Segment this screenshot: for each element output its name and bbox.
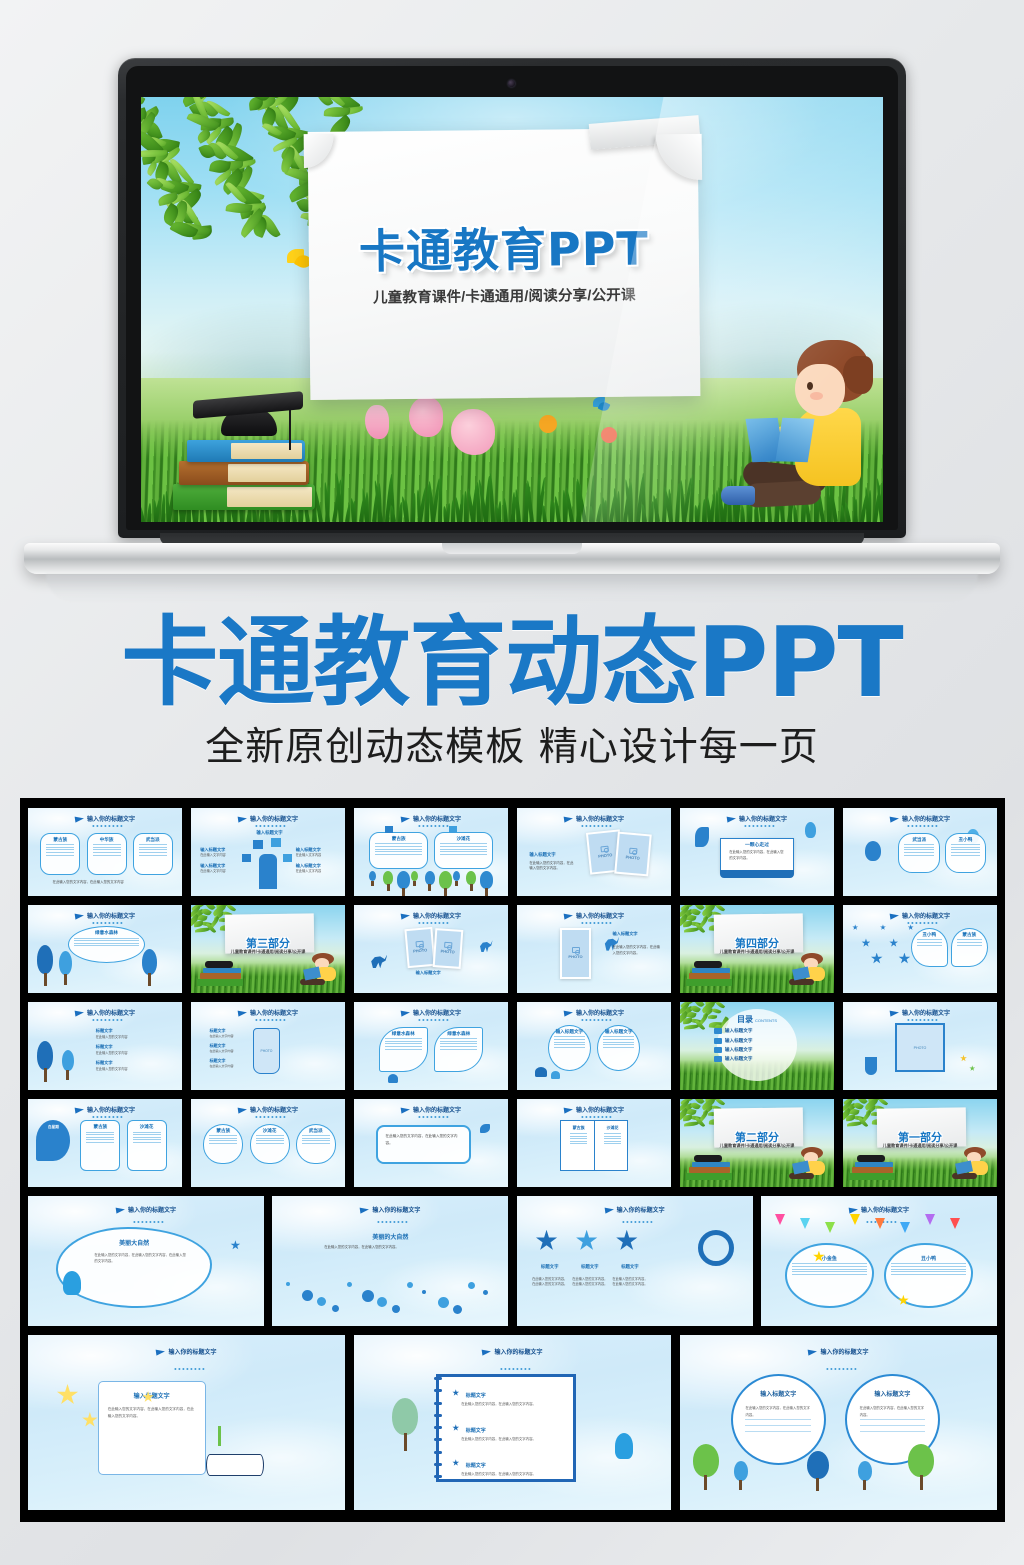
photo-placeholder[interactable]: PHOTO [405,927,436,968]
body-text: 在此输入您的文字内容，在此输入您的文字内容。 [461,1402,561,1407]
content-card[interactable]: 沙滩花 [127,1120,167,1171]
thumb-header-text: 输入你的标题文字 [87,1105,135,1114]
camera-icon [629,847,637,854]
star-icon [452,1424,459,1431]
slide-thumbnail[interactable]: 第三部分 儿童教育课件/卡通通用/阅读分享/公开课 [191,905,345,993]
notebook-ring [434,1463,442,1466]
mushroom-icon [388,1074,398,1083]
tree-icon [466,871,476,890]
contents-item[interactable]: 输入标题文字 [714,1038,819,1044]
book-spine [594,1120,595,1171]
slide-thumbnail[interactable]: 输入你的标题文字 输入标题文字 在此输入您的文字内容，在此输入您的文字内容。 输… [680,1335,997,1510]
contents-number [714,1047,722,1053]
thumb-header-text: 输入你的标题文字 [413,911,461,920]
card-body: 在此输入您的文字内容，在此输入您的文字内容。 [745,1405,811,1437]
paper-plane-icon [75,815,85,822]
content-card[interactable]: 武当派 [133,833,173,875]
label-block: 输入标题文字 在此输入文字内容 [296,847,335,858]
slide-thumbnail[interactable]: 输入你的标题文字 标题文字 在此输入您的文字内容，在此输入您的文字内容。 标题文… [354,1335,671,1510]
header-dots [500,1368,530,1370]
body-text: 在此输入您的文字内容，在此输入您的文字内容。 [611,1277,649,1287]
sprout-icon [218,1426,221,1446]
header-dots [92,1116,122,1118]
paper-plane-icon [401,1009,411,1016]
card-title: 武当派 [899,837,939,843]
thumb-header: 输入你的标题文字 [680,1347,997,1356]
poster-headline-block: 卡通教育动态PPT 全新原创动态模板 精心设计每一页 [0,612,1024,792]
header-dots [378,1221,408,1223]
slide-thumbnail[interactable]: 输入你的标题文字 在此输入您的文字内容，在此输入您的文字内容。 [354,1099,508,1187]
content-card[interactable]: 丑小鸭 [911,928,948,967]
slide-background [680,1335,997,1510]
tree-icon [858,1461,872,1489]
heart-icon [242,854,251,862]
content-card[interactable]: 在此输入您的文字内容，在此输入您的文字内容。 [376,1125,471,1164]
content-card[interactable]: 蒙古族 [369,832,428,869]
card-title: 武当派 [134,837,172,843]
body-text: 在此输入您的文字内容，在此输入您的文字内容。 [612,945,661,956]
thumb-header: 输入你的标题文字 [517,814,671,823]
content-card[interactable]: 武当派 [296,1124,336,1164]
photo-label: PHOTO [568,954,582,959]
content-card[interactable]: 蒙古族 [203,1124,243,1164]
item-label: 标题文字 [531,1264,569,1270]
content-card[interactable]: 输入标题文字 [548,1025,591,1071]
thumb-header: 输入你的标题文字 [354,1347,671,1356]
paper-plane-icon [238,1009,248,1016]
card-title: 中华族 [88,837,126,843]
label-block: 输入标题文字 在此输入文字内容 [200,863,239,874]
header-dots [581,825,611,827]
slide-thumbnail[interactable]: 第一部分 儿童教育课件/卡通通用/阅读分享/公开课 [843,1099,997,1187]
slide-thumbnail[interactable]: 输入你的标题文字 PHOTO PHOTO 输入标题文字 [354,905,508,993]
thumb-header-text: 输入你的标题文字 [902,1008,950,1017]
card-title: 输入标题文字 [612,931,637,937]
notebook-ring [434,1438,442,1441]
ship-wheel-icon [698,1230,734,1266]
slide-thumbnail[interactable]: 输入你的标题文字 一颗心走过在此输入您的文字内容，在此输入您的文字内容。 [680,808,834,896]
list-item[interactable]: 标题文字 在此输入您的文字内容，在此输入您的文字内容。 [452,1384,561,1407]
camera-icon [416,941,424,948]
content-card[interactable]: 蒙古族 [80,1120,120,1171]
photo-label: PHOTO [625,854,640,860]
header-dots [418,825,448,827]
thumb-header-text: 输入你的标题文字 [87,1008,135,1017]
heart-icon [271,838,281,847]
body-text: 在此输入您的文字内容，在此输入您的文字内容。 [529,861,575,872]
notebook-ring [434,1451,442,1454]
notebook-ring [434,1389,442,1392]
plant-pot-icon [865,1057,877,1075]
butterfly-icon [480,1124,490,1133]
body-text: 在此输入您的文字内容，在此输入您的文字内容 [53,880,161,885]
tree-icon [142,949,157,985]
content-card[interactable]: 沙滩花 [250,1124,290,1164]
thumb-header-text: 输入你的标题文字 [413,814,461,823]
thumb-header: 输入你的标题文字 [28,814,182,823]
header-dots [418,1116,448,1118]
slide-thumbnail[interactable]: 输入你的标题文字 蒙古族 中华族 武当派 在此输入您的文字内容，在此输入您的文字… [28,808,182,896]
book-stack-icon [686,1154,732,1180]
thumb-header-text: 输入你的标题文字 [576,1105,624,1114]
content-card[interactable]: 武当派 [898,833,940,873]
card-title: 美丽大自然 [58,1238,210,1247]
book-stack-icon [686,960,732,986]
card-title: 输入标题文字 [416,970,441,976]
label-block: 输入标题文字 在此输入文字内容 [296,863,335,874]
page-subtitle: 全新原创动态模板 精心设计每一页 [0,716,1024,772]
dot-flower-icon [362,1290,374,1302]
slide-thumbnail[interactable]: 输入你的标题文字 小金鱼 丑小鸭 [761,1196,997,1326]
child-silhouette-icon [63,1271,81,1295]
photo-label: PHOTO [598,852,613,858]
card-title: 蒙古族 [370,836,427,842]
contents-item[interactable]: 输入标题文字 [714,1056,819,1062]
thumb-header-text: 输入你的标题文字 [250,1008,298,1017]
paper-plane-icon [238,1106,248,1113]
tree-icon [369,871,376,885]
body-text: 在此输入您的文字内容，在此输入您的文字内容。 [571,1277,609,1287]
list-item[interactable]: 标题文字 在此输入文字内容 [209,1028,246,1038]
thumb-header: 输入你的标题文字 [761,1205,997,1214]
thumbnail-row: 输入你的标题文字 绿意水森林 第三部分 儿童教育课件/卡通通用/阅读分享/公开课 [28,905,997,993]
thumb-header: 输入你的标题文字 [517,1008,671,1017]
paper-plane-icon [564,1009,574,1016]
heart-icon [385,826,393,833]
thumb-header: 输入你的标题文字 [843,911,997,920]
header-dots [418,1019,448,1021]
list-item[interactable]: 标题文字 在此输入您的文字内容，在此输入您的文字内容。 [452,1419,561,1442]
slide-thumbnail[interactable]: 目录CONTENTS 输入标题文字 输入标题文字 输入标题文字 输入标题文字 [680,1002,834,1090]
title-paper-card: 卡通教育PPT 儿童教育课件/卡通通用/阅读分享/公开课 [308,128,701,400]
star-icon [452,1459,459,1466]
card-title: 蒙古族 [81,1124,119,1130]
item-label: 标题文字 [466,1428,486,1434]
thumbnail-row: 输入你的标题文字 输入标题文字 在此输入您的文字内容，在此输入您的文字内容，在此… [28,1335,997,1510]
content-card[interactable]: 沙滩花 [599,1125,627,1146]
thumb-header: 输入你的标题文字 [28,1205,264,1214]
tree-icon [734,1461,748,1489]
paper-curl [656,134,702,180]
contents-label: 输入标题文字 [725,1047,753,1053]
thumb-header-text: 输入你的标题文字 [413,1105,461,1114]
thumb-header-text: 输入你的标题文字 [87,911,135,920]
content-card[interactable]: 绿意水森林 [68,926,145,963]
header-dots [622,1221,652,1223]
slide-thumbnail[interactable]: 输入你的标题文字 丑小鸭 蒙古族 [843,905,997,993]
thumb-header: 输入你的标题文字 [517,1105,671,1114]
header-dots [907,825,937,827]
thumb-header: 输入你的标题文字 [354,1008,508,1017]
thumb-header: 输入你的标题文字 [28,1008,182,1017]
contents-number [714,1038,722,1044]
header-dots [907,1019,937,1021]
slide-thumbnail[interactable]: 输入你的标题文字 蒙古族 沙滩花 武当派 [191,1099,345,1187]
paper-plane-icon [727,815,737,822]
item-label: 标题文字 [611,1264,649,1270]
slide-thumbnail[interactable]: 输入你的标题文字 武当派 丑小鸭 [843,808,997,896]
card-title: 美丽的大自然 [272,1232,508,1241]
thumb-header-text: 输入你的标题文字 [413,1008,461,1017]
contents-item[interactable]: 输入标题文字 [714,1047,819,1053]
card-title: 输入标题文字 [733,1389,824,1398]
thumb-header-text: 输入你的标题文字 [861,1205,909,1214]
paper-plane-icon [156,1348,166,1355]
slide-thumbnail[interactable]: 输入你的标题文字 绿意水森林 [28,905,182,993]
mushroom-icon [551,1071,560,1079]
notebook-ring [434,1377,442,1380]
camera-icon [600,846,609,853]
contents-list: 输入标题文字 输入标题文字 输入标题文字 输入标题文字 [714,1028,819,1065]
card-title: 沙滩花 [128,1124,166,1130]
header-dots [92,1019,122,1021]
slide-background [272,1196,508,1326]
body-text: 在此输入您的文字内容，在此输入您的文字内容，在此输入您的文字内容。 [58,1247,210,1264]
paper-plane-icon [482,1348,492,1355]
card-title: 输入标题文字 [99,1391,205,1400]
header-dots [581,922,611,924]
thumb-header-text: 输入你的标题文字 [494,1347,542,1356]
item-label: 标题文字 [466,1463,486,1469]
open-book-icon [749,418,811,464]
child-silhouette-icon [615,1433,633,1459]
dot-flower-icon [438,1297,449,1308]
slide-thumbnail[interactable]: 输入你的标题文字 PHOTO 标题文字 在此输入文字内容 标题文字 在此输入文字… [191,1002,345,1090]
paper-plane-icon [401,912,411,919]
thumb-header: 输入你的标题文字 [517,1205,753,1214]
thumb-header-text: 输入你的标题文字 [576,1008,624,1017]
header-dots [92,825,122,827]
slide-thumbnail[interactable]: 输入你的标题文字 PHOTO PHOTO 输入标题文字在此输入您的文字内容，在此… [517,808,671,896]
graduation-cap-icon [193,396,303,436]
flower-pink-icon [409,397,443,437]
bunting-flags [775,1214,983,1237]
content-card[interactable]: 中华族 [87,833,127,875]
paper-plane-icon [564,815,574,822]
tree-icon [37,1041,53,1081]
content-card[interactable]: 输入标题文字 [597,1025,640,1071]
content-card[interactable]: 沙滩花 [434,832,493,869]
slide-thumbnail[interactable]: 输入你的标题文字 白星期 蒙古族 沙滩花 [28,1099,182,1187]
slide-title: 卡通教育PPT [308,212,699,282]
camera-icon [444,942,452,949]
header-dots [744,825,774,827]
dot-flower-icon [468,1282,475,1289]
flower-pink-icon [451,409,495,455]
thumb-header: 输入你的标题文字 [28,1347,345,1356]
heart-icon [449,826,457,833]
boy-reading-illustration [788,953,828,988]
laptop-screen: 卡通教育PPT 儿童教育课件/卡通通用/阅读分享/公开课 [141,97,883,522]
bottle-photo-placeholder[interactable]: PHOTO [253,1028,281,1074]
slide-thumbnail[interactable]: 输入你的标题文字 蒙古族 沙滩花 [517,1099,671,1187]
tree-icon [693,1444,719,1490]
thumb-header: 输入你的标题文字 [517,911,671,920]
tree-icon [425,871,435,890]
photo-placeholder[interactable]: PHOTO [614,831,651,876]
thumb-header-text: 输入你的标题文字 [87,814,135,823]
paper-plane-icon [238,815,248,822]
card-title: 输入标题文字 [847,1389,938,1398]
thumbnail-row: 输入你的标题文字 白星期 蒙古族 沙滩花 输入你的标题文字 蒙古族 沙滩花 武当… [28,1099,997,1187]
slide-thumbnail[interactable]: 输入你的标题文字 美丽大自然 在此输入您的文字内容，在此输入您的文字内容，在此输… [28,1196,264,1326]
photo-label: PHOTO [413,948,428,954]
tree-icon [62,1050,74,1080]
thumb-header-text: 输入你的标题文字 [128,1205,176,1214]
balloon-icon [865,841,881,861]
content-card[interactable]: 美丽大自然 在此输入您的文字内容，在此输入您的文字内容，在此输入您的文字内容。 [56,1227,212,1308]
tree-icon [439,871,452,895]
header-dots [581,1019,611,1021]
camera-icon [572,947,580,953]
page-title: 卡通教育动态PPT [0,612,1024,714]
paper-plane-icon [116,1206,126,1213]
laptop-base-notch [442,543,582,554]
header-dots [907,922,937,924]
tree-icon [908,1444,934,1490]
thumb-header-text: 输入你的标题文字 [250,1105,298,1114]
paper-plane-icon [75,1106,85,1113]
contents-label: 输入标题文字 [725,1056,753,1062]
list-item[interactable]: 标题文字 在此输入您的文字内容，在此输入您的文字内容。 [452,1454,561,1477]
paper-plane-icon [75,1009,85,1016]
header-dots [581,1116,611,1118]
contents-number [714,1056,722,1062]
slide-thumbnail[interactable]: 第四部分 儿童教育课件/卡通通用/阅读分享/公开课 [680,905,834,993]
book-stack-icon [197,960,243,986]
paper-plane-icon [401,1106,411,1113]
list-item[interactable]: 标题文字 在此输入文字内容 [209,1058,246,1068]
notebook-ring [434,1426,442,1429]
thumbnail-row: 输入你的标题文字 蒙古族 中华族 武当派 在此输入您的文字内容，在此输入您的文字… [28,808,997,896]
header-dots [133,1221,163,1223]
boy-reading-illustration [951,1147,991,1182]
slide-thumbnail[interactable]: 输入你的标题文字 标题文字 在此输入您的文字内容 标题文字 在此输入您的文字内容… [28,1002,182,1090]
tree-icon [807,1451,829,1491]
book-stack-icon [173,395,323,510]
paper-plane-icon [564,912,574,919]
card-title: 输入标题文字 [253,830,287,836]
list-item[interactable]: 标题文字 在此输入文字内容 [209,1043,246,1053]
heart-icon [253,840,263,849]
body-text: 在此输入您的文字内容，在此输入您的文字内容。 [378,1127,469,1151]
thumbnail-row: 输入你的标题文字 美丽大自然 在此输入您的文字内容，在此输入您的文字内容，在此输… [28,1196,997,1326]
laptop-reflection [46,574,978,602]
header-dots [255,1116,285,1118]
slide-thumbnail[interactable]: 输入你的标题文字 PHOTO [843,1002,997,1090]
thumb-header-text: 输入你的标题文字 [739,814,787,823]
list-item[interactable]: 标题文字 在此输入您的文字内容 [96,1060,170,1071]
slide-thumbnail[interactable]: 输入你的标题文字 输入标题文字 输入标题文字 [517,1002,671,1090]
content-card[interactable]: 蒙古族 [565,1125,593,1146]
content-card[interactable]: 蒙古族 [40,833,80,875]
paper-curl [304,134,334,168]
photo-placeholder[interactable]: PHOTO [433,928,463,969]
slide-thumbnail[interactable]: 输入你的标题文字 输入标题文字 在此输入您的文字内容，在此输入您的文字内容，在此… [28,1335,345,1510]
thumb-header-text: 输入你的标题文字 [902,911,950,920]
tree-icon [392,1398,418,1450]
thumbnail-row: 输入你的标题文字 标题文字 在此输入您的文字内容 标题文字 在此输入您的文字内容… [28,1002,997,1090]
contents-number [714,1028,722,1034]
slide-thumbnail[interactable]: 输入你的标题文字 PHOTO 输入标题文字在此输入您的文字内容，在此输入您的文字… [517,905,671,993]
body-text: 在此输入您的文字内容，在此输入您的文字内容，在此输入您的文字内容。 [99,1400,205,1426]
label-block: 输入标题文字 在此输入文字内容 [200,847,239,858]
slide-thumbnail[interactable]: 输入你的标题文字 绿意水森林 绿意水森林 [354,1002,508,1090]
body-text: 在此输入您的文字内容，在此输入您的文字内容。 [461,1472,561,1477]
tree-icon [411,871,418,885]
content-card[interactable]: 输入标题文字 在此输入您的文字内容，在此输入您的文字内容，在此输入您的文字内容。 [98,1381,206,1476]
tree-icon [59,951,72,985]
card-title: 丑小鸭 [886,1255,972,1262]
boy-reading-illustration [788,1147,828,1182]
boy-reading-illustration [299,953,339,988]
thumb-header-text: 输入你的标题文字 [250,814,298,823]
paper-plane-icon [890,1009,900,1016]
thumb-header: 输入你的标题文字 [354,814,508,823]
thumb-header: 输入你的标题文字 [354,911,508,920]
dot-flower-icon [453,1305,462,1314]
thumb-header-text: 输入你的标题文字 [576,814,624,823]
card-title: 输入标题文字 [529,852,555,858]
open-book-icon [206,1454,264,1476]
slide-thumbnail[interactable]: 输入你的标题文字 输入标题文字 输入标题文字 在此输入文字内容 输入标题文字 在… [191,808,345,896]
paper-plane-icon [564,1106,574,1113]
thumb-header-text: 输入你的标题文字 [168,1347,216,1356]
paper-plane-icon [890,912,900,919]
card-title: 丑小鸭 [946,837,986,843]
thumb-header: 输入你的标题文字 [28,1105,182,1114]
card-title: 蒙古族 [41,837,79,843]
contents-item[interactable]: 输入标题文字 [714,1028,819,1034]
slide-thumbnail[interactable]: 输入你的标题文字 美丽的大自然在此输入您的文字内容，在此输入您的文字内容。 [272,1196,508,1326]
card-title: 小金鱼 [787,1255,873,1262]
header-dots [92,922,122,924]
notebook-ring [434,1402,442,1405]
thumb-header-text: 输入你的标题文字 [902,814,950,823]
mushroom-icon [535,1067,547,1077]
slide-subtitle: 儿童教育课件/卡通通用/阅读分享/公开课 [309,283,699,308]
dot-flower-icon [332,1305,339,1312]
body-text: 在此输入您的文字内容，在此输入您的文字内容。 [729,850,784,861]
flower-orange-icon [539,415,557,433]
paper-plane-icon [401,815,411,822]
content-card[interactable]: 绿意水森林 [379,1027,428,1073]
thumb-header: 输入你的标题文字 [272,1205,508,1214]
list-item[interactable]: 标题文字 在此输入您的文字内容 [96,1028,170,1039]
header-dots [174,1368,204,1370]
balloon-icon [805,822,816,838]
thumb-header-text: 输入你的标题文字 [576,911,624,920]
body-text: 在此输入您的文字内容，在此输入您的文字内容。 [324,1245,456,1250]
content-card[interactable]: 丑小鸭 [945,833,987,873]
photo-placeholder[interactable]: PHOTO [560,928,591,979]
dot-flower-icon [347,1282,352,1287]
list-item[interactable]: 标题文字 在此输入您的文字内容 [96,1044,170,1055]
header-dots [418,922,448,924]
slide-thumbnail[interactable]: 输入你的标题文字 蒙古族 沙滩花 [354,808,508,896]
thumb-header: 输入你的标题文字 [843,814,997,823]
content-card[interactable]: 蒙古族 [951,928,988,967]
paper-plane-icon [849,1206,859,1213]
slide-thumbnail[interactable]: 第二部分 儿童教育课件/卡通通用/阅读分享/公开课 [680,1099,834,1187]
photo-placeholder[interactable]: PHOTO [895,1023,944,1072]
boy-reading-illustration [725,336,875,516]
thumb-header-text: 输入你的标题文字 [820,1347,868,1356]
item-label: 标题文字 [466,1393,486,1399]
slide-thumbnail[interactable]: 输入你的标题文字 标题文字在此输入您的文字内容，在此输入您的文字内容。标题文字在… [517,1196,753,1326]
thumb-header-text: 输入你的标题文字 [617,1205,665,1214]
book-spine [720,870,794,879]
